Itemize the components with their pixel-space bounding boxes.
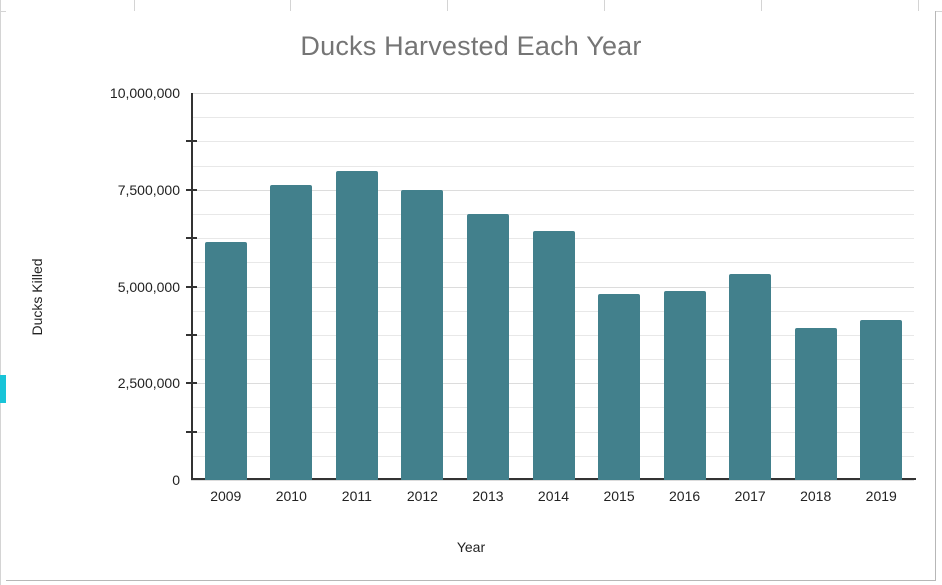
bar[interactable] <box>598 294 640 480</box>
gridline-major <box>191 480 914 481</box>
bar[interactable] <box>795 328 837 480</box>
bar[interactable] <box>860 320 902 480</box>
bar-series: 2009201020112012201320142015201620172018… <box>193 93 914 480</box>
x-axis-tick-label: 2015 <box>603 488 634 504</box>
chart-title: Ducks Harvested Each Year <box>6 31 936 62</box>
x-axis-title: Year <box>6 539 936 555</box>
bar[interactable] <box>336 171 378 480</box>
bar-slot: 2016 <box>652 93 718 480</box>
sheet-column-divider <box>761 0 762 11</box>
bar-slot: 2010 <box>259 93 325 480</box>
bar[interactable] <box>467 214 509 480</box>
plot-area: 02,500,0005,000,0007,500,00010,000,000 2… <box>191 93 914 480</box>
bar-slot: 2013 <box>455 93 521 480</box>
x-axis-tick-label: 2013 <box>472 488 503 504</box>
bar-slot: 2019 <box>848 93 914 480</box>
x-axis-tick-label: 2019 <box>866 488 897 504</box>
chart-container[interactable]: Ducks Harvested Each Year Ducks Killed Y… <box>6 11 936 581</box>
sheet-column-divider <box>447 0 448 11</box>
x-axis-tick-label: 2012 <box>407 488 438 504</box>
bar[interactable] <box>270 185 312 480</box>
sheet-column-divider <box>604 0 605 11</box>
x-axis-tick-label: 2010 <box>276 488 307 504</box>
sheet-column-divider <box>290 0 291 11</box>
x-axis-tick-label: 2018 <box>800 488 831 504</box>
bar[interactable] <box>401 190 443 480</box>
x-axis-tick-label: 2014 <box>538 488 569 504</box>
y-axis-tick-label: 2,500,000 <box>118 375 180 391</box>
y-axis-tick-label: 0 <box>172 472 180 488</box>
y-axis-tick-label: 10,000,000 <box>110 85 180 101</box>
bar-slot: 2011 <box>324 93 390 480</box>
bar[interactable] <box>533 231 575 480</box>
y-axis-title: Ducks Killed <box>29 237 45 357</box>
bar[interactable] <box>729 274 771 480</box>
bar-slot: 2015 <box>586 93 652 480</box>
bar-slot: 2014 <box>521 93 587 480</box>
sheet-left-border <box>0 0 1 585</box>
sheet-column-divider <box>134 0 135 11</box>
x-axis-tick-label: 2009 <box>210 488 241 504</box>
sheet-column-divider <box>0 0 1 11</box>
bar-slot: 2009 <box>193 93 259 480</box>
bar-slot: 2017 <box>717 93 783 480</box>
x-axis-tick-label: 2016 <box>669 488 700 504</box>
spreadsheet-chart-screen: Ducks Harvested Each Year Ducks Killed Y… <box>0 0 942 585</box>
x-axis-tick-label: 2017 <box>735 488 766 504</box>
bar[interactable] <box>205 242 247 480</box>
bar-slot: 2018 <box>783 93 849 480</box>
y-axis-tick-label: 5,000,000 <box>118 279 180 295</box>
y-axis-tick-label: 7,500,000 <box>118 182 180 198</box>
bar-slot: 2012 <box>390 93 456 480</box>
bar[interactable] <box>664 291 706 480</box>
x-axis-tick-label: 2011 <box>342 488 372 504</box>
sheet-column-divider <box>918 0 919 11</box>
